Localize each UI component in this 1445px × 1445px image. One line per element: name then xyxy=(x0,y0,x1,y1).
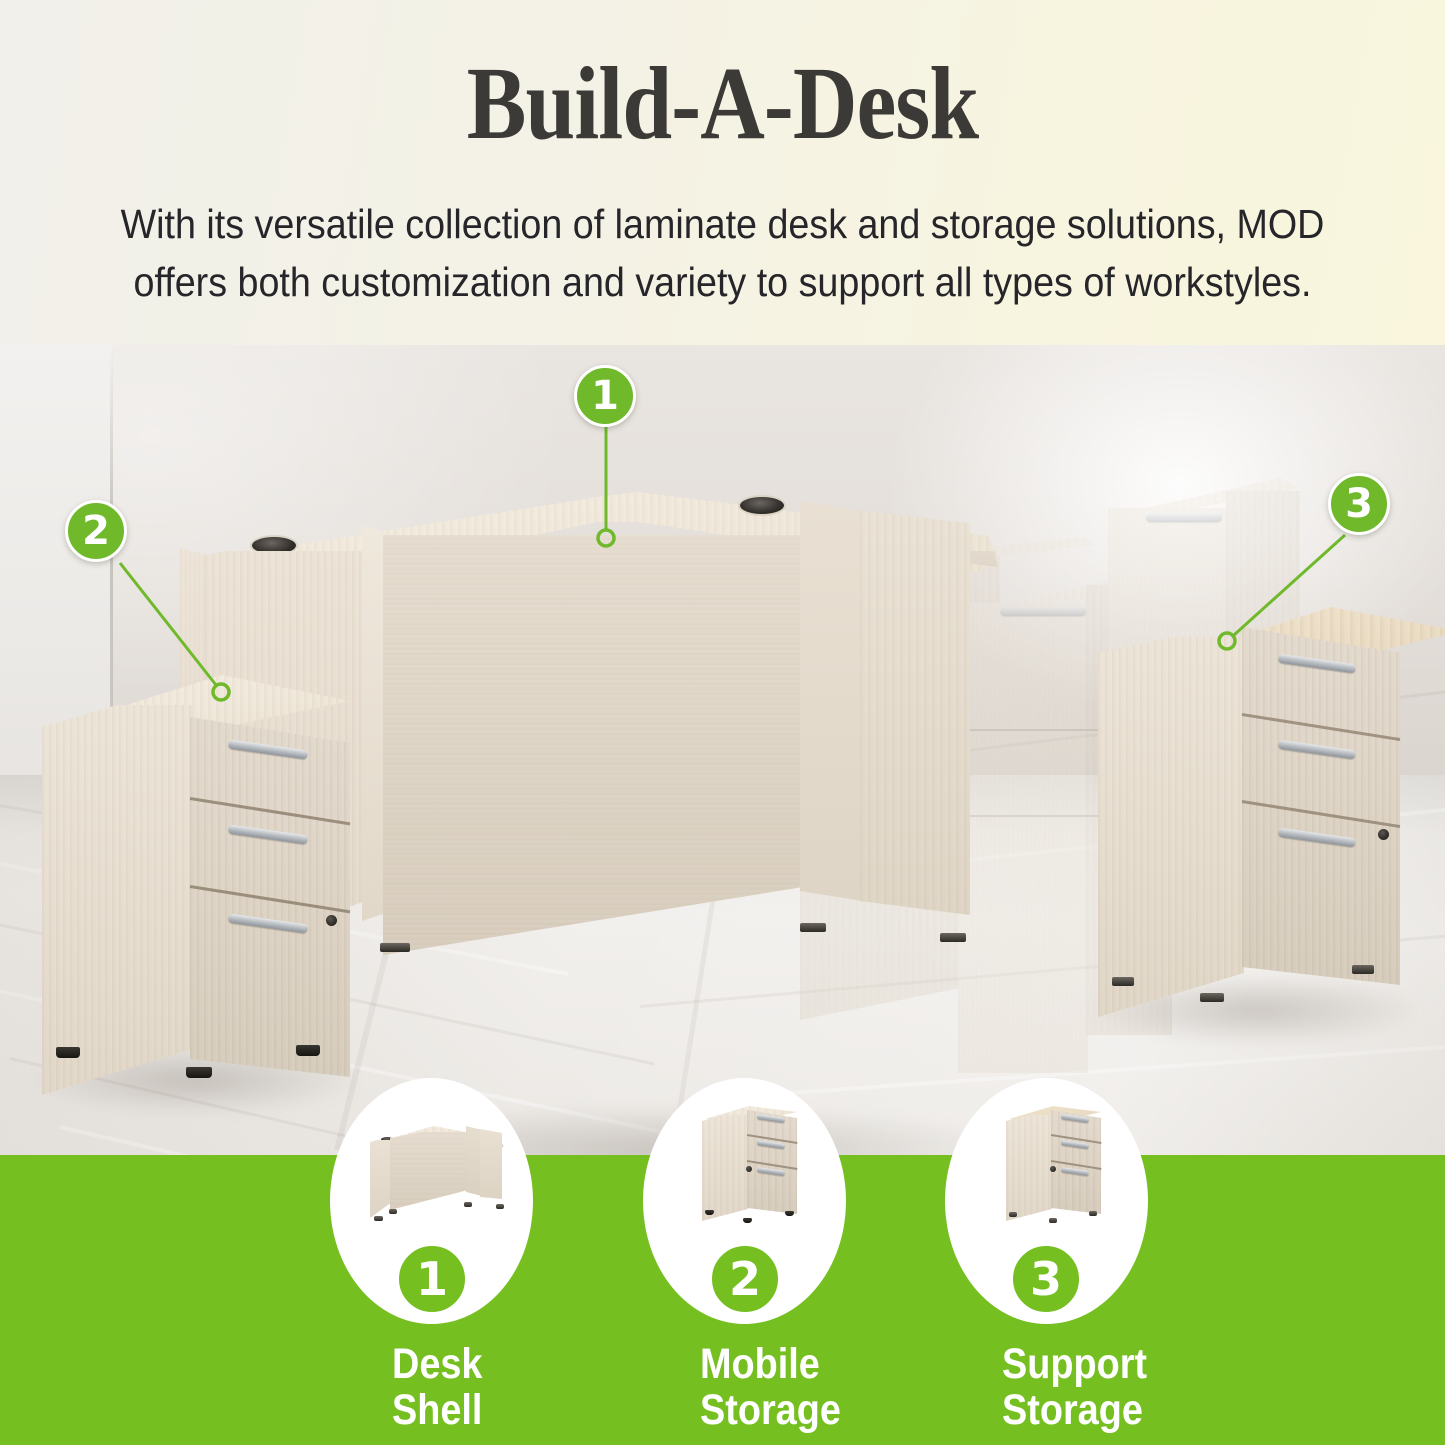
caster-icon xyxy=(785,1211,794,1216)
page-title: Build-A-Desk xyxy=(101,52,1344,156)
thumb-desk-foot xyxy=(374,1216,383,1221)
caster-icon xyxy=(705,1210,714,1215)
thumb-sup-foot xyxy=(1009,1212,1017,1217)
thumb-sup-foot xyxy=(1049,1218,1057,1223)
product-photo: 1 2 3 xyxy=(0,345,1445,1155)
thumb-desk-right-panel xyxy=(466,1126,482,1204)
thumb-desk-foot xyxy=(496,1204,504,1209)
lock-icon xyxy=(746,1166,752,1172)
item-label-1: Desk Shell xyxy=(392,1341,482,1433)
item-number-badge-3[interactable]: 3 xyxy=(1010,1243,1082,1315)
header-band: Build-A-Desk With its versatile collecti… xyxy=(0,0,1445,345)
thumb-sup-side xyxy=(1006,1115,1052,1221)
thumb-sup-foot xyxy=(1089,1211,1097,1216)
item-label-2: Mobile Storage xyxy=(700,1341,841,1433)
thumb-ped-side xyxy=(702,1115,748,1221)
item-number-badge-1[interactable]: 1 xyxy=(396,1243,468,1315)
callout-1-leader xyxy=(0,345,1445,1155)
thumb-desk-right-outer xyxy=(480,1129,502,1205)
thumb-desk-left-panel xyxy=(370,1140,392,1218)
item-number-badge-2[interactable]: 2 xyxy=(709,1243,781,1315)
callout-badge-3[interactable]: 3 xyxy=(1328,473,1390,535)
build-a-desk-infographic: Build-A-Desk With its versatile collecti… xyxy=(0,0,1445,1445)
thumb-desk-foot xyxy=(389,1209,397,1214)
page-subtitle: With its versatile collection of laminat… xyxy=(99,196,1346,311)
thumb-desk-foot xyxy=(464,1202,472,1207)
callout-badge-2[interactable]: 2 xyxy=(65,500,127,562)
callout-badge-1[interactable]: 1 xyxy=(574,365,636,427)
lock-icon xyxy=(1050,1166,1056,1172)
caster-icon xyxy=(743,1218,752,1223)
thumb-desk-modesty xyxy=(390,1132,468,1210)
item-label-3: Support Storage xyxy=(1002,1341,1147,1433)
